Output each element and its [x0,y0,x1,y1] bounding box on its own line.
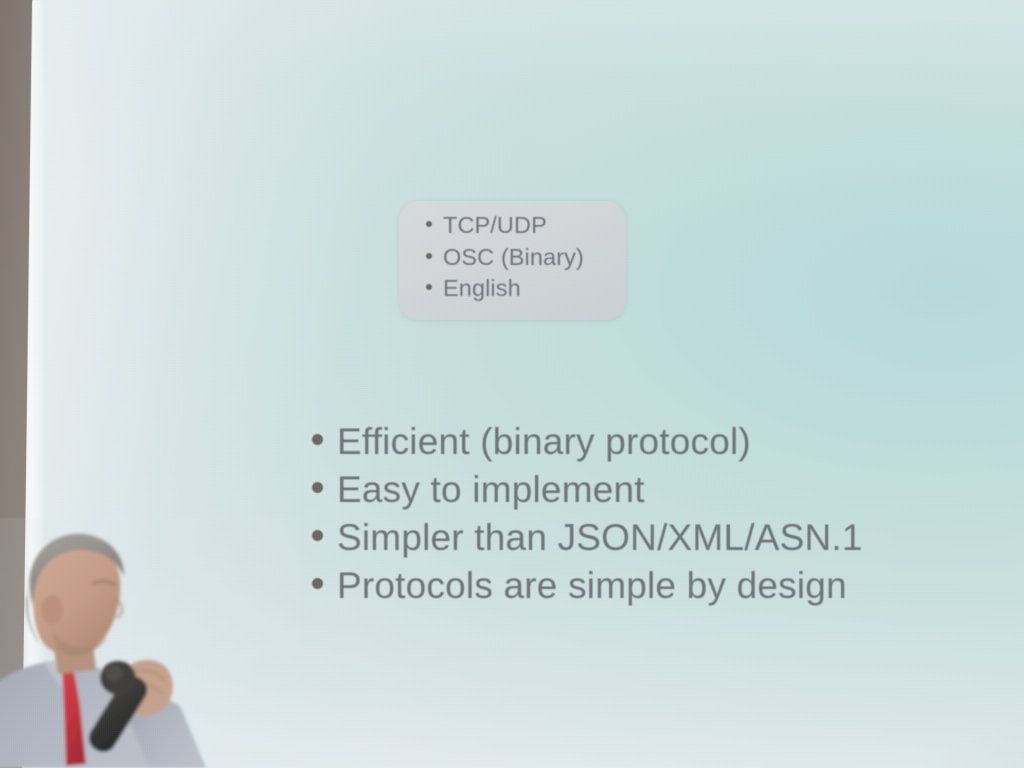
bullet-label: Protocols are simple by design [337,562,847,610]
list-item: TCP/UDP [426,210,584,242]
list-item: Protocols are simple by design [312,562,863,610]
bullet-dot-icon [312,434,323,445]
bullet-label: OSC (Binary) [443,242,584,274]
bullet-label: Efficient (binary protocol) [337,418,751,466]
bullet-label: Easy to implement [337,466,645,514]
list-item: Simpler than JSON/XML/ASN.1 [312,514,863,562]
protocol-stack-bullet-list: TCP/UDP OSC (Binary) English [426,210,584,305]
bullet-label: Simpler than JSON/XML/ASN.1 [337,514,863,562]
list-item: OSC (Binary) [426,242,584,274]
slide-main-bullet-list: Efficient (binary protocol) Easy to impl… [312,418,863,610]
bullet-label: English [443,273,521,305]
presenter-figure [0,518,300,768]
bullet-dot-icon [426,284,432,290]
bullet-label: TCP/UDP [443,210,547,242]
presentation-photo: TCP/UDP OSC (Binary) English Efficient (… [0,0,1024,768]
list-item: Efficient (binary protocol) [312,418,863,466]
bullet-dot-icon [312,482,323,493]
bullet-dot-icon [426,253,432,259]
bullet-dot-icon [312,530,323,541]
list-item: Easy to implement [312,466,863,514]
list-item: English [426,273,584,305]
protocol-stack-box: TCP/UDP OSC (Binary) English [399,201,626,320]
bullet-dot-icon [312,578,323,589]
bullet-dot-icon [426,221,432,227]
